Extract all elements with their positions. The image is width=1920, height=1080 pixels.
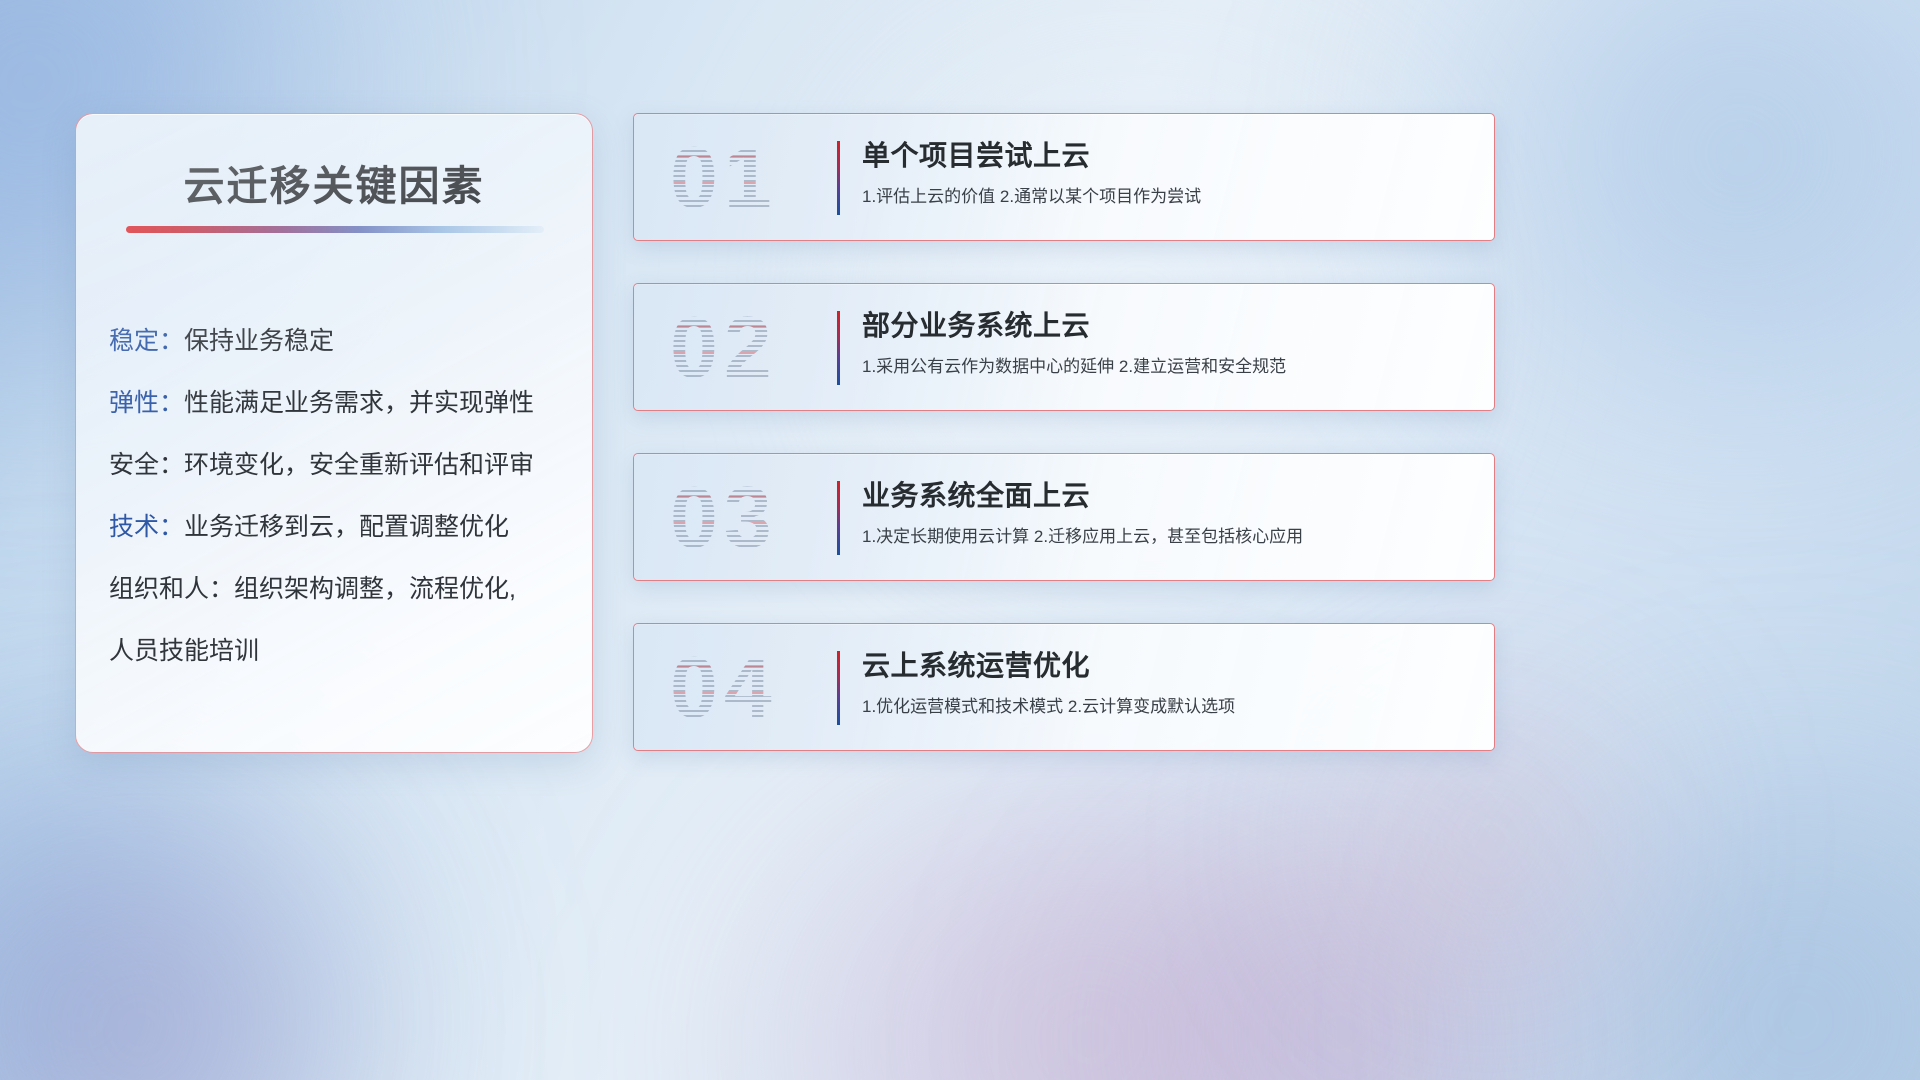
key-factors-panel: 云迁移关键因素 稳定：保持业务稳定弹性：性能满足业务需求，并实现弹性安全：环境变…: [75, 113, 593, 753]
key-factors-list: 稳定：保持业务稳定弹性：性能满足业务需求，并实现弹性安全：环境变化，安全重新评估…: [109, 310, 568, 682]
key-factor-line: 弹性：性能满足业务需求，并实现弹性: [109, 372, 568, 434]
stage-title: 业务系统全面上云: [862, 476, 1470, 516]
key-factor-label: 稳定：: [109, 327, 184, 355]
stage-number-watermark-accent: 01: [670, 130, 820, 226]
stage-description: 1.采用公有云作为数据中心的延伸 2.建立运营和安全规范: [862, 354, 1470, 380]
stage-divider-bar: [837, 651, 840, 725]
stage-description: 1.评估上云的价值 2.通常以某个项目作为尝试: [862, 184, 1470, 210]
stage-number-watermark-accent: 03: [670, 470, 820, 566]
key-factor-text: 人员技能培训: [109, 637, 259, 665]
stage-title: 云上系统运营优化: [862, 646, 1470, 686]
key-factor-line: 稳定：保持业务稳定: [109, 310, 568, 372]
key-factor-text: 性能满足业务需求，并实现弹性: [184, 389, 534, 417]
stage-card-list: 0101单个项目尝试上云1.评估上云的价值 2.通常以某个项目作为尝试0202部…: [633, 113, 1495, 793]
key-factor-label: 弹性：: [109, 389, 184, 417]
stage-card-body: 部分业务系统上云1.采用公有云作为数据中心的延伸 2.建立运营和安全规范: [862, 306, 1470, 380]
title-underline-gradient: [126, 226, 544, 233]
key-factor-line: 技术：业务迁移到云，配置调整优化: [109, 496, 568, 558]
stage-divider-bar: [837, 311, 840, 385]
key-factor-text: 业务迁移到云，配置调整优化: [184, 513, 509, 541]
stage-number-watermark-accent: 04: [670, 640, 820, 736]
stage-card-body: 云上系统运营优化1.优化运营模式和技术模式 2.云计算变成默认选项: [862, 646, 1470, 720]
key-factor-label: 组织和人：: [109, 575, 234, 603]
panel-title: 云迁移关键因素: [76, 152, 592, 212]
key-factor-text: 环境变化，安全重新评估和评审: [184, 451, 534, 479]
stage-card[interactable]: 0101单个项目尝试上云1.评估上云的价值 2.通常以某个项目作为尝试: [633, 113, 1495, 241]
stage-number-watermark-accent: 02: [670, 300, 820, 396]
key-factor-line: 组织和人：组织架构调整，流程优化,: [109, 558, 568, 620]
key-factor-label: 安全：: [109, 451, 184, 479]
stage-card-body: 单个项目尝试上云1.评估上云的价值 2.通常以某个项目作为尝试: [862, 136, 1470, 210]
stage-card[interactable]: 0303业务系统全面上云1.决定长期使用云计算 2.迁移应用上云，甚至包括核心应…: [633, 453, 1495, 581]
stage-title: 部分业务系统上云: [862, 306, 1470, 346]
stage-description: 1.决定长期使用云计算 2.迁移应用上云，甚至包括核心应用: [862, 524, 1470, 550]
stage-card[interactable]: 0404云上系统运营优化1.优化运营模式和技术模式 2.云计算变成默认选项: [633, 623, 1495, 751]
key-factor-text: 组织架构调整，流程优化,: [234, 575, 516, 603]
key-factor-text: 保持业务稳定: [184, 327, 334, 355]
key-factor-line: 人员技能培训: [109, 620, 568, 682]
stage-card-body: 业务系统全面上云1.决定长期使用云计算 2.迁移应用上云，甚至包括核心应用: [862, 476, 1470, 550]
key-factor-line: 安全：环境变化，安全重新评估和评审: [109, 434, 568, 496]
stage-title: 单个项目尝试上云: [862, 136, 1470, 176]
stage-divider-bar: [837, 481, 840, 555]
stage-card[interactable]: 0202部分业务系统上云1.采用公有云作为数据中心的延伸 2.建立运营和安全规范: [633, 283, 1495, 411]
stage-divider-bar: [837, 141, 840, 215]
stage-description: 1.优化运营模式和技术模式 2.云计算变成默认选项: [862, 694, 1470, 720]
key-factor-label: 技术：: [109, 513, 184, 541]
